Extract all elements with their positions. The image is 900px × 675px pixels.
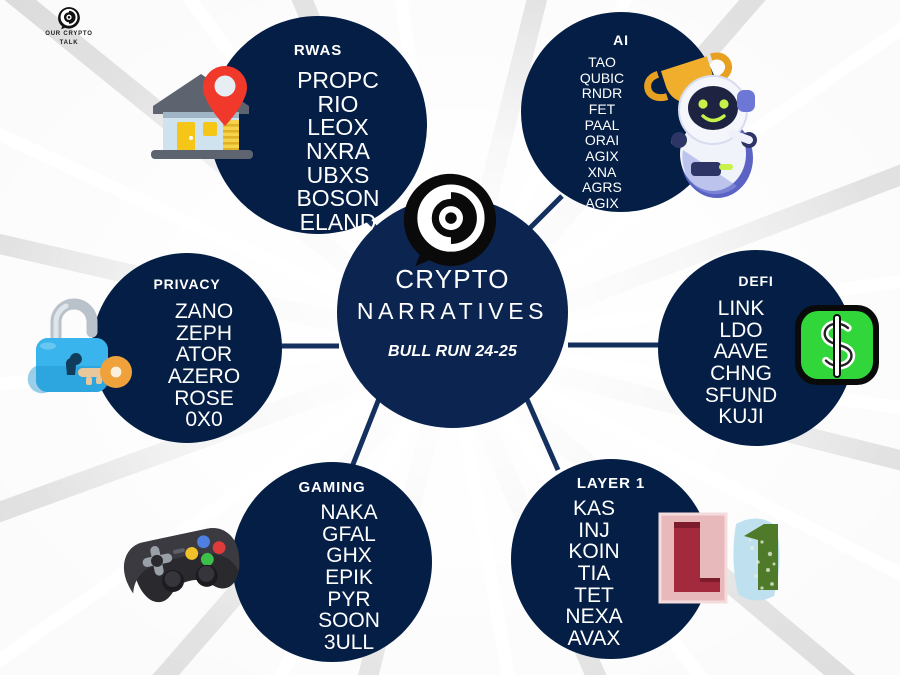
token-item: LINK [718,298,765,320]
token-item: PAAL [585,118,620,134]
token-item: XNA [588,165,617,181]
token-item: QUBIC [580,71,624,87]
token-item: ZEPH [176,323,232,345]
token-item: UBXS [307,164,370,188]
branch-title-gaming: GAMING [298,479,365,496]
branch-title-ai: AI [613,32,629,48]
token-item: KAS [573,498,615,520]
center-title-line2: NARRATIVES [357,298,548,325]
token-item: CGPT [583,212,622,228]
branch-title-privacy: PRIVACY [153,276,220,292]
padlock-with-key-icon [26,296,138,408]
token-item: TIA [578,563,611,585]
token-item: ELAND [300,211,377,235]
token-item: PROPC [297,69,379,93]
token-item: LEOX [307,116,368,140]
token-list-gaming: NAKAGFALGHXEPIKPYRSOON3ULL [284,502,380,653]
branch-title-rwas: RWAS [294,42,342,59]
token-item: RIO [318,93,359,117]
token-item: KUJI [718,406,764,428]
branch-title-layer1: LAYER 1 [577,475,645,492]
token-item: PYR [327,589,370,611]
infographic-canvas: OUR CRYPTO TALK RWAS PROPCRIOLEOXNXRAUBX… [0,0,900,675]
center-subtitle: BULL RUN 24-25 [388,343,517,361]
token-item: AVAX [568,628,621,650]
token-item: BOSON [296,187,379,211]
brand-line2: TALK [14,39,124,48]
robot-with-trophy-icon [633,46,769,204]
token-item: SFUND [705,385,777,407]
brand-logo: OUR CRYPTO TALK [14,6,124,48]
branch-title-defi: DEFI [738,273,773,289]
our-crypto-talk-mark-icon [57,6,81,30]
dollar-sign-app-icon [790,301,884,389]
token-item: NXRA [306,140,370,164]
branch-bubble-gaming[interactable]: GAMING NAKAGFALGHXEPIKPYRSOON3ULL [232,462,432,662]
token-item: 0X0 [185,409,222,431]
token-item: LDO [719,320,762,342]
token-item: CHNG [710,363,772,385]
token-item: GHX [326,545,372,567]
token-item: AGIX [585,149,618,165]
token-item: ATOR [176,344,232,366]
token-item: GFAL [322,524,376,546]
token-item: ORAI [585,133,619,149]
token-item: AAVE [714,341,768,363]
center-title-line1: CRYPTO [395,264,509,295]
game-controller-icon [108,508,244,624]
l1-letters-icon [652,506,796,608]
house-with-location-pin-icon [143,62,267,166]
token-item: AZERO [168,366,240,388]
token-list-layer1: KASINJKOINTIATETNEXAAVAX [565,498,656,649]
token-item: RNDR [582,86,622,102]
token-item: TAO [588,55,616,71]
token-item: 3ULL [324,632,374,654]
token-item: TET [574,585,614,607]
token-item: EPIK [325,567,373,589]
token-item: FET [589,102,615,118]
token-list-privacy: ZANOZEPHATORAZEROROSE0X0 [134,301,240,431]
token-list-rwas: PROPCRIOLEOXNXRAUBXSBOSONELAND [256,69,379,235]
token-item: AGRS [582,180,622,196]
token-item: KOIN [568,541,619,563]
token-item: ZANO [175,301,233,323]
token-item: NEXA [565,606,622,628]
brand-line1: OUR CRYPTO [14,30,124,39]
token-item: AGIX [585,196,618,212]
token-item: NAKA [320,502,377,524]
token-item: INJ [578,520,610,542]
token-item: SOON [318,610,380,632]
crypto-talk-c-logo-icon [402,172,498,268]
token-item: ROSE [174,388,234,410]
